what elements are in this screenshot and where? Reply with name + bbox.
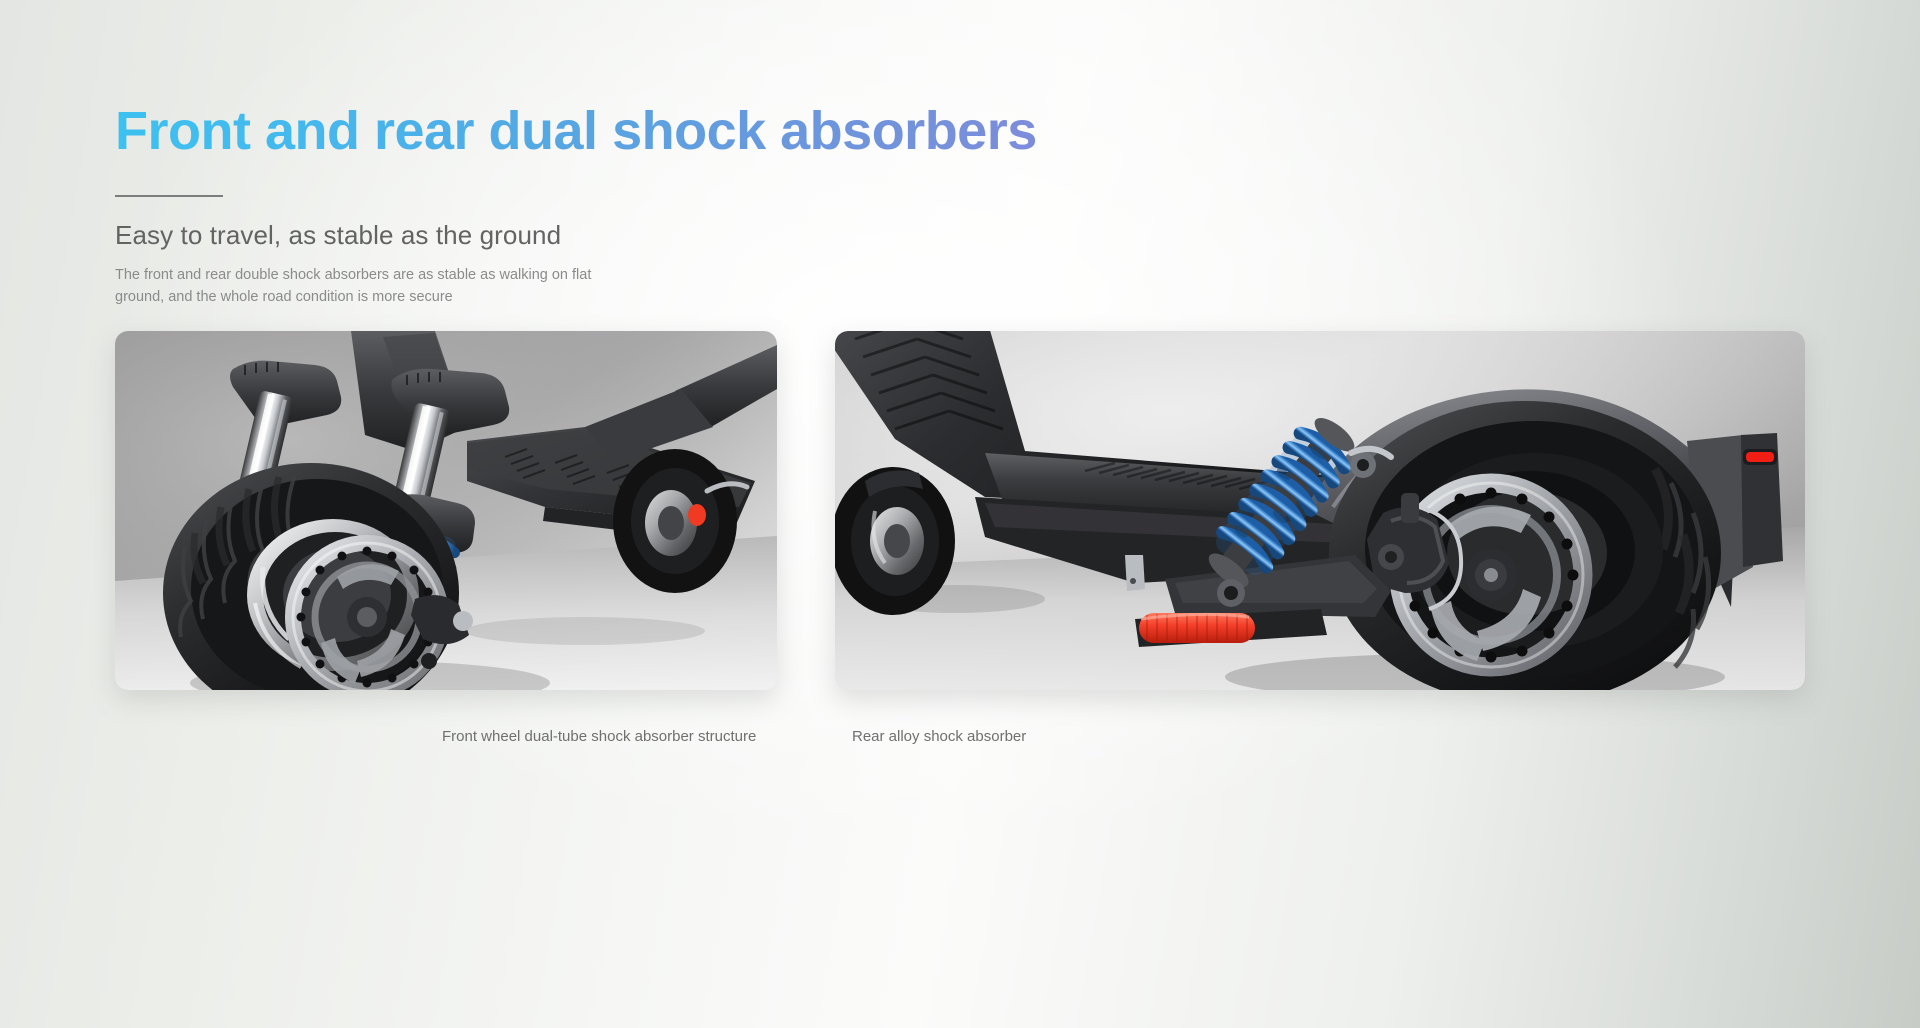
description-paragraph: The front and rear double shock absorber… <box>115 264 615 308</box>
front-wheel-photo <box>115 331 777 690</box>
rear-reflector <box>1746 452 1774 462</box>
front-wheel-card[interactable] <box>115 331 777 690</box>
caption-front-wheel: Front wheel dual-tube shock absorber str… <box>442 728 756 745</box>
rear-shock-photo <box>835 331 1805 690</box>
product-feature-page: Front and rear dual shock absorbers Easy… <box>0 0 1920 1028</box>
subtitle: Easy to travel, as stable as the ground <box>115 220 1215 251</box>
caption-rear-shock: Rear alloy shock absorber <box>852 728 1026 745</box>
rear-shock-card[interactable] <box>835 331 1805 690</box>
header-block: Front and rear dual shock absorbers Easy… <box>115 100 1215 308</box>
title-divider <box>115 195 223 197</box>
page-title: Front and rear dual shock absorbers <box>115 100 1215 162</box>
image-card-row: Front wheel dual-tube shock absorber str… <box>115 331 1805 751</box>
